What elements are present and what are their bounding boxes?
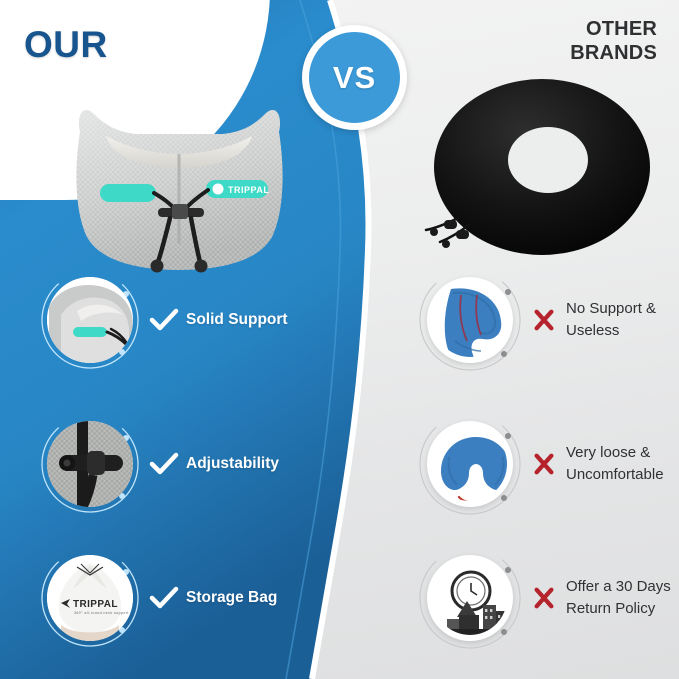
svg-text:TRIPPAL: TRIPPAL xyxy=(73,599,118,610)
feature-label-other-2-line2: Uncomfortable xyxy=(566,464,664,486)
feature-thumb-wrap: TRIPPAL 360° all-round neck support xyxy=(38,546,142,650)
feature-label-other-1-line2: Useless xyxy=(566,320,656,342)
feature-row-other-1: No Support & Useless xyxy=(418,268,676,372)
feature-label-other-2-line1: Very loose & xyxy=(566,442,664,464)
thumb-very-loose xyxy=(427,421,513,507)
check-mark xyxy=(142,308,186,332)
check-mark xyxy=(142,452,186,476)
feature-label-our-2: Adjustability xyxy=(186,454,279,474)
thumb-solid-support xyxy=(47,277,133,363)
feature-label-other-3-line2: Return Policy xyxy=(566,598,671,620)
feature-label-other-2: Very loose & Uncomfortable xyxy=(566,442,664,486)
feature-row-our-3: TRIPPAL 360° all-round neck support Stor… xyxy=(38,546,338,650)
comparison-infographic: OUR OTHER BRANDS VS xyxy=(0,0,679,679)
feature-row-our-2: Adjustability xyxy=(38,412,338,516)
x-mark xyxy=(522,308,566,332)
x-mark xyxy=(522,452,566,476)
feature-label-other-3: Offer a 30 Days Return Policy xyxy=(566,576,671,620)
other-brands-line2: BRANDS xyxy=(570,41,657,65)
feature-thumb-wrap xyxy=(418,268,522,372)
feature-thumb-wrap xyxy=(38,412,142,516)
feature-thumb-wrap xyxy=(418,412,522,516)
thumb-adjustability xyxy=(47,421,133,507)
feature-label-our-3: Storage Bag xyxy=(186,588,277,608)
thumb-return-policy xyxy=(427,555,513,641)
x-icon xyxy=(532,452,556,476)
other-brands-line1: OTHER xyxy=(570,17,657,41)
svg-text:360° all-round neck support: 360° all-round neck support xyxy=(74,611,129,615)
feature-thumb-wrap xyxy=(38,268,142,372)
feature-row-other-2: Very loose & Uncomfortable xyxy=(418,412,676,516)
feature-row-our-1: Solid Support xyxy=(38,268,338,372)
feature-thumb-wrap xyxy=(418,546,522,650)
vs-badge: VS xyxy=(302,25,407,130)
check-mark xyxy=(142,586,186,610)
x-icon xyxy=(532,586,556,610)
feature-label-our-1: Solid Support xyxy=(186,310,288,330)
check-icon xyxy=(149,586,179,610)
feature-label-other-1: No Support & Useless xyxy=(566,298,656,342)
thumb-storage-bag: TRIPPAL 360° all-round neck support xyxy=(47,555,133,641)
page-title-other-brands: OTHER BRANDS xyxy=(570,17,657,66)
check-icon xyxy=(149,308,179,332)
thumb-no-support xyxy=(427,277,513,363)
x-mark xyxy=(522,586,566,610)
feature-label-other-3-line1: Offer a 30 Days xyxy=(566,576,671,598)
page-title-our: OUR xyxy=(24,24,108,66)
check-icon xyxy=(149,452,179,476)
feature-label-other-1-line1: No Support & xyxy=(566,298,656,320)
x-icon xyxy=(532,308,556,332)
feature-row-other-3: Offer a 30 Days Return Policy xyxy=(418,546,676,650)
hero-image-other-pillow xyxy=(424,72,656,262)
hero-image-our-pillow: TRIPPAL xyxy=(58,92,301,277)
svg-text:TRIPPAL: TRIPPAL xyxy=(228,185,269,195)
vs-label: VS xyxy=(333,60,376,96)
